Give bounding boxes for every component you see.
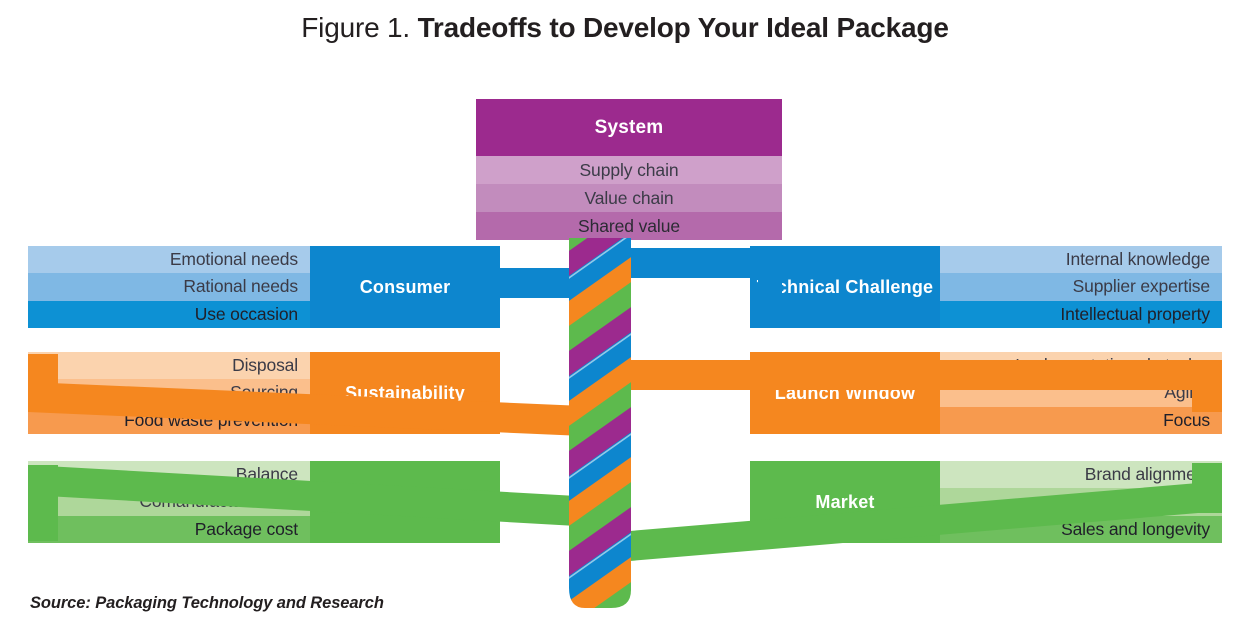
- list-item: Competition: [940, 488, 1222, 515]
- system-item-supply-chain: Supply chain: [476, 156, 782, 184]
- row-consumer-technical: Emotional needs Rational needs Use occas…: [0, 246, 1250, 328]
- system-block: System Supply chain Value chain Shared v…: [476, 99, 782, 240]
- system-item-value-chain: Value chain: [476, 184, 782, 212]
- list-item: Focus: [940, 407, 1222, 434]
- pillar-market: Market: [750, 461, 940, 543]
- list-item: Disposal: [28, 352, 310, 379]
- source-note: Source: Packaging Technology and Researc…: [30, 594, 384, 613]
- figure-title: Figure 1. Tradeoffs to Develop Your Idea…: [0, 12, 1250, 44]
- list-item: Agility: [940, 379, 1222, 406]
- pillar-consumer: Consumer: [310, 246, 500, 328]
- pillar-sustainability: Sustainability: [310, 352, 500, 434]
- list-item: Comanufacture/build: [28, 488, 310, 515]
- row-0-right-items: Internal knowledge Supplier expertise In…: [940, 246, 1222, 328]
- figure-container: Figure 1. Tradeoffs to Develop Your Idea…: [0, 0, 1250, 633]
- row-sustainability-launch: Disposal Sourcing Food waste prevention …: [0, 352, 1250, 434]
- list-item: Rational needs: [28, 273, 310, 300]
- list-item: Internal knowledge: [940, 246, 1222, 273]
- list-item: Sales and longevity: [940, 516, 1222, 543]
- row-2-left-items: Balance Comanufacture/build Package cost: [28, 461, 310, 543]
- row-1-left-items: Disposal Sourcing Food waste prevention: [28, 352, 310, 434]
- list-item: Food waste prevention: [28, 407, 310, 434]
- list-item: Brand alignment: [940, 461, 1222, 488]
- row-0-left-items: Emotional needs Rational needs Use occas…: [28, 246, 310, 328]
- pillar-cost: Cost: [310, 461, 500, 543]
- figure-label: Figure 1.: [301, 12, 410, 43]
- list-item: Package cost: [28, 516, 310, 543]
- system-block-heading: System: [476, 99, 782, 156]
- row-1-right-items: Implementation obstacles Agility Focus: [940, 352, 1222, 434]
- list-item: Emotional needs: [28, 246, 310, 273]
- figure-title-text: Tradeoffs to Develop Your Ideal Package: [418, 12, 949, 43]
- list-item: Balance: [28, 461, 310, 488]
- system-item-shared-value: Shared value: [476, 212, 782, 240]
- list-item: Sourcing: [28, 379, 310, 406]
- pillar-technical-challenge: Technical Challenge: [750, 246, 940, 328]
- list-item: Supplier expertise: [940, 273, 1222, 300]
- list-item: Implementation obstacles: [940, 352, 1222, 379]
- row-cost-market: Balance Comanufacture/build Package cost…: [0, 461, 1250, 543]
- pillar-launch-window: Launch Window: [750, 352, 940, 434]
- list-item: Intellectual property: [940, 301, 1222, 328]
- list-item: Use occasion: [28, 301, 310, 328]
- row-2-right-items: Brand alignment Competition Sales and lo…: [940, 461, 1222, 543]
